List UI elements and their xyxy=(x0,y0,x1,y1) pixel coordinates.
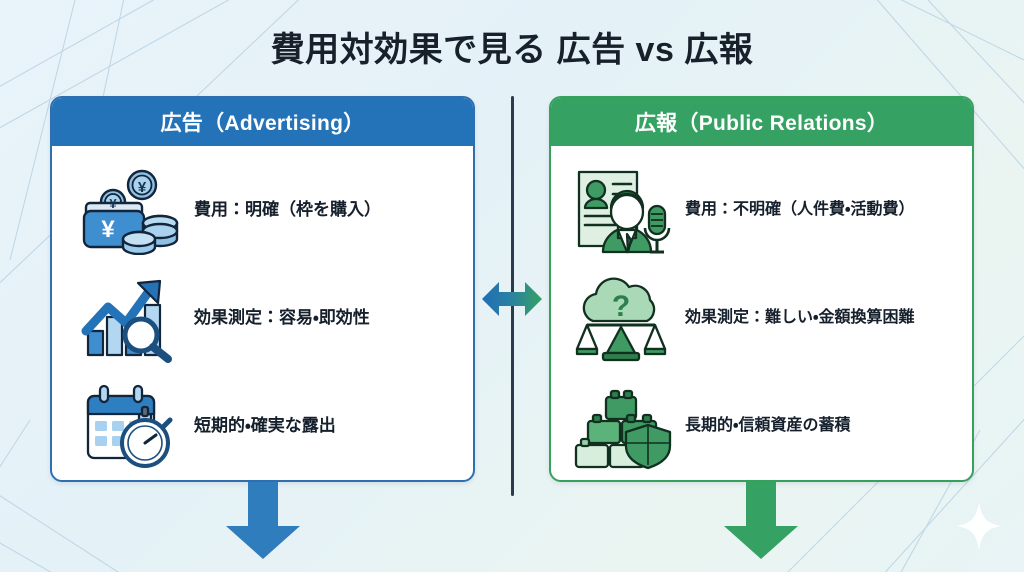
arrow-down-icon-advertising xyxy=(218,482,308,560)
svg-text:¥: ¥ xyxy=(109,196,117,211)
svg-text:¥: ¥ xyxy=(101,216,115,243)
card-header-advertising: 広告（Advertising） xyxy=(52,98,473,146)
list-item: 費用：不明確（人件費・活動費） xyxy=(551,156,972,264)
list-item: ? 効果測定：難しい・金額換算困難 xyxy=(551,264,972,372)
list-item-label: 短期的・確実な露出 xyxy=(186,415,336,438)
list-item-label: 費用：不明確（人件費・活動費） xyxy=(677,199,914,221)
card-header-public-relations: 広報（Public Relations） xyxy=(551,98,972,146)
slide-canvas: 費用対効果で見る 広告 vs 広報 広告（Advertising） xyxy=(0,0,1024,572)
card-body-advertising: ¥ ¥ ¥ 費用：明確（枠を購入） xyxy=(52,146,473,480)
list-item: 長期的・信頼資産の蓄積 xyxy=(551,372,972,480)
building-blocks-shield-icon xyxy=(565,378,677,474)
svg-text:?: ? xyxy=(612,290,630,323)
card-public-relations: 広報（Public Relations） xyxy=(549,96,974,482)
bar-chart-growth-magnifier-icon xyxy=(74,270,186,366)
list-item: 効果測定：容易・即効性 xyxy=(52,264,473,372)
card-advertising: 広告（Advertising） xyxy=(50,96,475,482)
question-cloud-balance-scale-icon: ? xyxy=(565,270,677,366)
double-arrow-horizontal-icon xyxy=(481,277,543,321)
wallet-yen-coins-icon: ¥ ¥ ¥ xyxy=(74,162,186,258)
list-item-label: 効果測定：難しい・金額換算困難 xyxy=(677,307,914,329)
page-title: 費用対効果で見る 広告 vs 広報 xyxy=(0,22,1024,71)
list-item-label: 効果測定：容易・即効性 xyxy=(186,307,370,330)
list-item: ¥ ¥ ¥ 費用：明確（枠を購入） xyxy=(52,156,473,264)
list-item-label: 費用：明確（枠を購入） xyxy=(186,199,381,222)
card-body-public-relations: 費用：不明確（人件費・活動費） ? xyxy=(551,146,972,480)
arrow-down-icon-public-relations xyxy=(716,482,806,560)
svg-text:¥: ¥ xyxy=(138,179,147,196)
sparkle-decoration xyxy=(955,500,1003,552)
calendar-stopwatch-icon xyxy=(74,378,186,474)
list-item-label: 長期的・信頼資産の蓄積 xyxy=(677,415,850,437)
press-release-spokesperson-microphone-icon xyxy=(565,162,677,258)
list-item: 短期的・確実な露出 xyxy=(52,372,473,480)
